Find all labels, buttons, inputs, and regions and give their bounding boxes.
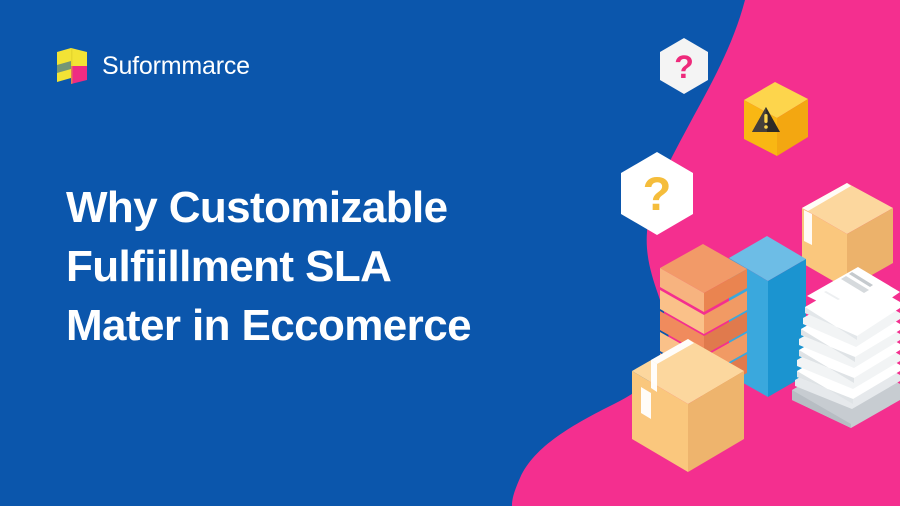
promo-banner: Suformmarce Why Customizable Fulfiillmen… xyxy=(0,0,900,506)
layered-book-logo-icon xyxy=(55,48,89,84)
headline-line-1: Why Customizable xyxy=(66,179,471,238)
headline-line-3: Mater in Eccomerce xyxy=(66,297,471,356)
brand-logo[interactable]: Suformmarce xyxy=(55,48,250,84)
headline-line-2: Fulfiillment SLA xyxy=(66,238,471,297)
page-title: Why Customizable Fulfiillment SLA Mater … xyxy=(66,179,471,355)
brand-name: Suformmarce xyxy=(102,54,250,79)
